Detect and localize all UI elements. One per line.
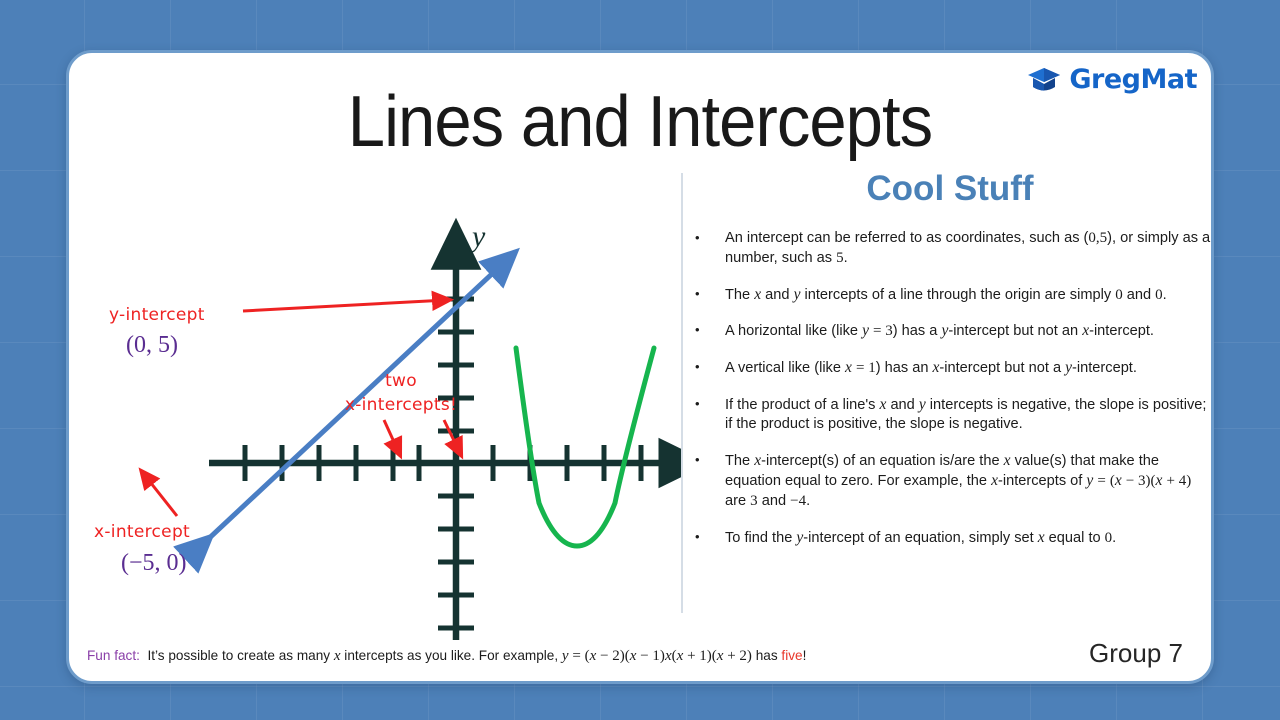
bullet-text: If the product of a line's x and y inter…: [725, 395, 1214, 435]
y-axis-label: y: [469, 220, 486, 253]
parabola-curve: [516, 348, 654, 546]
bullet-text: A vertical like (like x = 1) has an x-in…: [725, 358, 1214, 379]
two-x-intercepts-annotation: two x-intercepts!: [345, 371, 460, 453]
slide-card: GregMat Lines and Intercepts: [66, 50, 1214, 684]
y-intercept-label: y-intercept: [109, 305, 205, 325]
list-item: • A vertical like (like x = 1) has an x-…: [695, 358, 1214, 379]
bullet-dot: •: [695, 285, 725, 306]
x-intercept-annotation: x-intercept (−5, 0): [94, 473, 190, 576]
list-item: • To find the y-intercept of an equation…: [695, 528, 1214, 549]
bullet-text: The x and y intercepts of a line through…: [725, 285, 1214, 306]
bullet-text: An intercept can be referred to as coord…: [725, 229, 1214, 269]
bullet-dot: •: [695, 395, 725, 435]
bullet-text: To find the y-intercept of an equation, …: [725, 528, 1214, 549]
graph-panel: y x y-intercept (0, 5) x-intercept (−5, …: [69, 148, 681, 648]
fun-fact-label: Fun fact: [87, 648, 136, 663]
x-intercept-coord: (−5, 0): [121, 550, 187, 576]
bullet-text: A horizontal like (like y = 3) has a y-i…: [725, 321, 1214, 342]
list-item: • If the product of a line's x and y int…: [695, 395, 1214, 435]
list-item: • An intercept can be referred to as coo…: [695, 229, 1214, 269]
bullet-dot: •: [695, 528, 725, 549]
fun-fact-text: It’s possible to create as many x interc…: [147, 648, 806, 663]
bullet-dot: •: [695, 321, 725, 342]
bullet-list: • An intercept can be referred to as coo…: [695, 229, 1214, 565]
column-divider: [681, 173, 683, 613]
section-heading: Cool Stuff: [695, 169, 1205, 209]
two-x-intercepts-line1: two: [385, 371, 417, 391]
fun-fact-separator: :: [136, 648, 140, 663]
list-item: • A horizontal like (like y = 3) has a y…: [695, 321, 1214, 342]
bullet-dot: •: [695, 451, 725, 512]
fun-fact-footer: Fun fact: It’s possible to create as man…: [87, 648, 806, 665]
y-intercept-coord: (0, 5): [126, 332, 178, 358]
x-intercept-label: x-intercept: [94, 522, 190, 542]
y-intercept-annotation: y-intercept (0, 5): [109, 300, 447, 358]
list-item: • The x-intercept(s) of an equation is/a…: [695, 451, 1214, 512]
bullet-dot: •: [695, 229, 725, 269]
group-label: Group 7: [1089, 638, 1183, 669]
list-item: • The x and y intercepts of a line throu…: [695, 285, 1214, 306]
intercepts-graph: y x y-intercept (0, 5) x-intercept (−5, …: [69, 148, 681, 648]
two-x-intercepts-line2: x-intercepts!: [345, 395, 457, 415]
bullet-text: The x-intercept(s) of an equation is/are…: [725, 451, 1214, 512]
bullet-dot: •: [695, 358, 725, 379]
x-axis: [209, 445, 681, 481]
